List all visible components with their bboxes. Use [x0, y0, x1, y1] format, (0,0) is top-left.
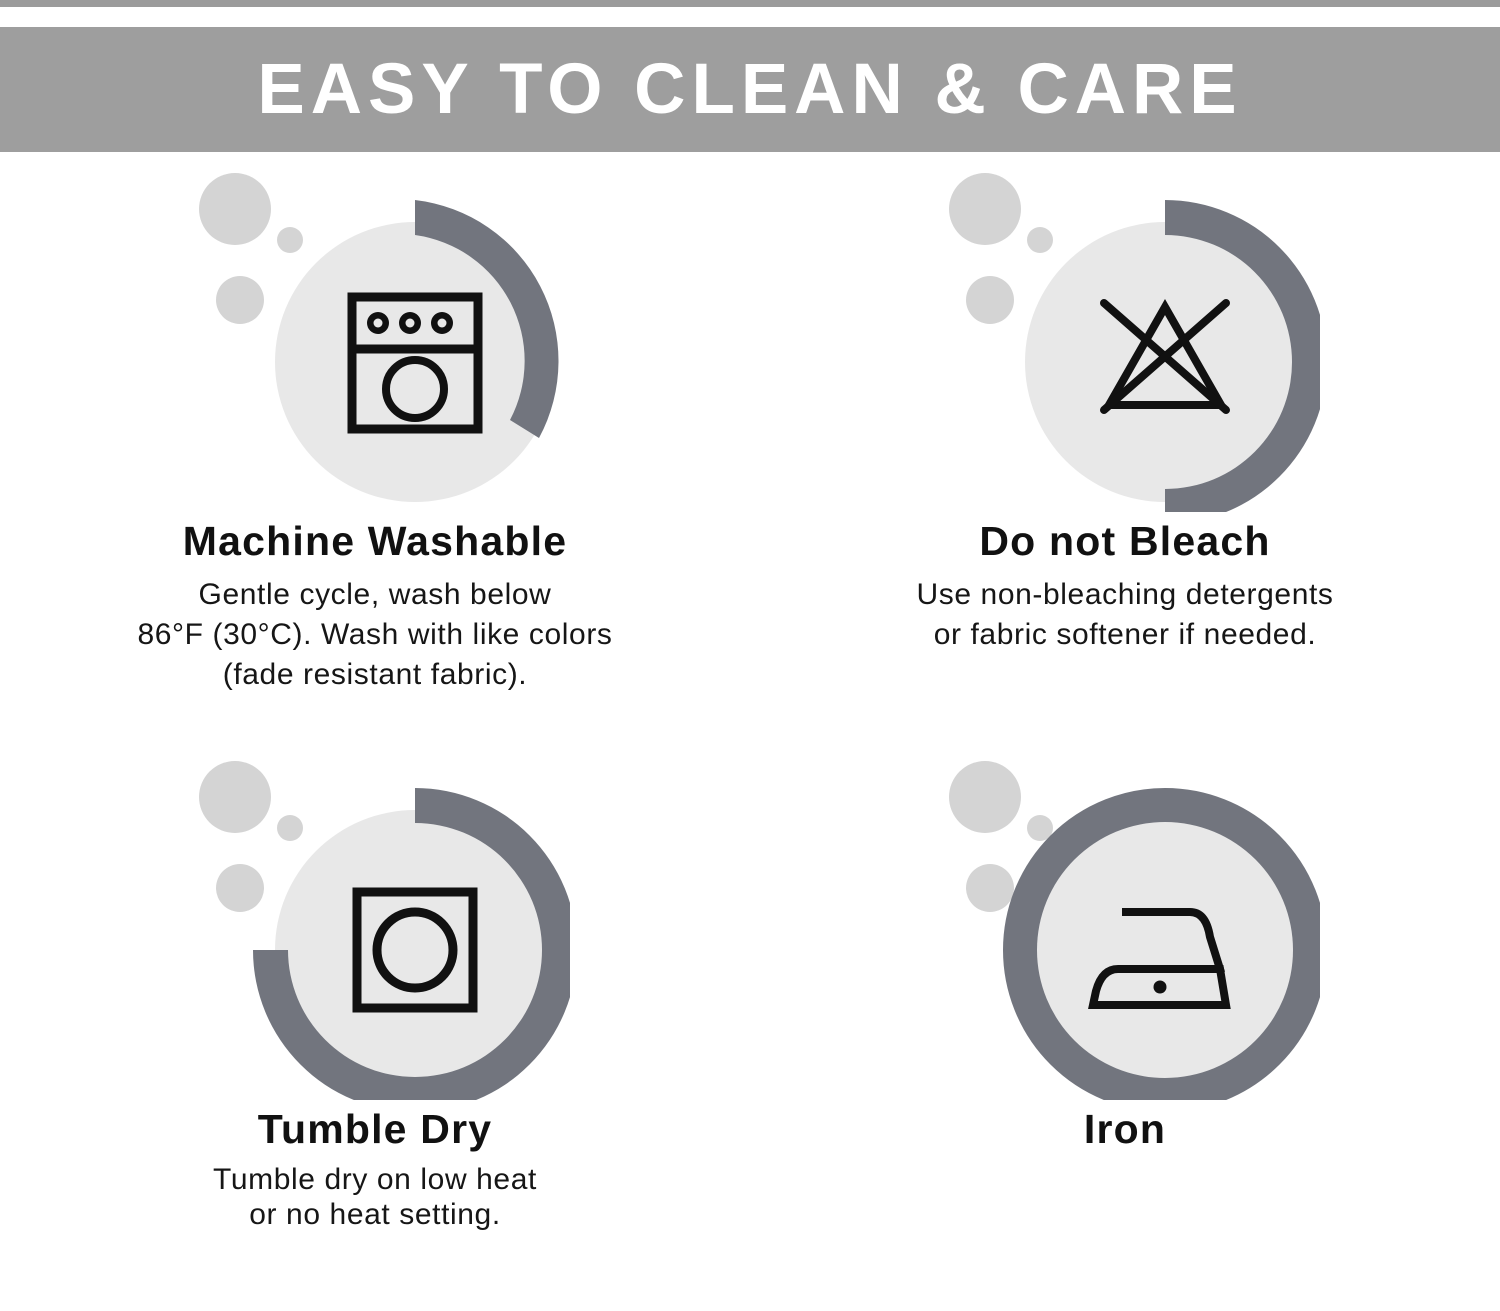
- bubble-large-icon: [949, 173, 1021, 245]
- bubble-small-icon: [277, 815, 303, 841]
- panel-body-machine-washable: Gentle cycle, wash below 86°F (30°C). Wa…: [20, 575, 730, 695]
- caption-do-not-bleach: Do not Bleach Use non-bleaching detergen…: [750, 518, 1500, 655]
- caption-machine-washable: Machine Washable Gentle cycle, wash belo…: [0, 518, 750, 695]
- badge-artwork: [180, 740, 570, 1100]
- panel-title-do-not-bleach: Do not Bleach: [770, 518, 1480, 565]
- body-line: Use non-bleaching detergents: [770, 575, 1480, 615]
- bubble-large-icon: [199, 761, 271, 833]
- care-instructions-grid: Machine Washable Gentle cycle, wash belo…: [0, 152, 1500, 1311]
- top-divider-rule: [0, 0, 1500, 7]
- panel-machine-washable: Machine Washable Gentle cycle, wash belo…: [0, 152, 750, 695]
- panel-body-do-not-bleach: Use non-bleaching detergents or fabric s…: [770, 575, 1480, 655]
- panel-title-iron: Iron: [770, 1106, 1480, 1153]
- bubble-medium-icon: [216, 276, 264, 324]
- badge-artwork: [930, 152, 1320, 512]
- bubble-small-icon: [277, 227, 303, 253]
- badge-artwork: [930, 740, 1320, 1100]
- badge-tumble-dry: [180, 740, 570, 1100]
- bubble-medium-icon: [966, 276, 1014, 324]
- caption-tumble-dry: Tumble Dry Tumble dry on low heat or no …: [0, 1106, 750, 1232]
- body-line: Gentle cycle, wash below: [20, 575, 730, 615]
- panel-tumble-dry: Tumble Dry Tumble dry on low heat or no …: [0, 740, 750, 1232]
- badge-machine-washable: [180, 152, 570, 512]
- body-line: Tumble dry on low heat: [20, 1163, 730, 1198]
- header-bar: EASY TO CLEAN & CARE: [0, 27, 1500, 152]
- bubble-small-icon: [1027, 227, 1053, 253]
- body-line: or fabric softener if needed.: [770, 615, 1480, 655]
- body-line: 86°F (30°C). Wash with like colors: [20, 615, 730, 655]
- badge-do-not-bleach: [930, 152, 1320, 512]
- panel-body-tumble-dry: Tumble dry on low heat or no heat settin…: [20, 1163, 730, 1232]
- panel-title-tumble-dry: Tumble Dry: [20, 1106, 730, 1153]
- panel-iron: Iron: [750, 740, 1500, 1163]
- badge-disc-icon: [1037, 822, 1293, 1078]
- panel-do-not-bleach: Do not Bleach Use non-bleaching detergen…: [750, 152, 1500, 655]
- panel-title-machine-washable: Machine Washable: [20, 518, 730, 565]
- page-title: EASY TO CLEAN & CARE: [257, 54, 1242, 125]
- caption-iron: Iron: [750, 1106, 1500, 1153]
- body-line: (fade resistant fabric).: [20, 655, 730, 695]
- bubble-medium-icon: [966, 864, 1014, 912]
- bubble-large-icon: [949, 761, 1021, 833]
- badge-artwork: [180, 152, 570, 512]
- bubble-medium-icon: [216, 864, 264, 912]
- bubble-large-icon: [199, 173, 271, 245]
- badge-iron: [930, 740, 1320, 1100]
- body-line: or no heat setting.: [20, 1198, 730, 1233]
